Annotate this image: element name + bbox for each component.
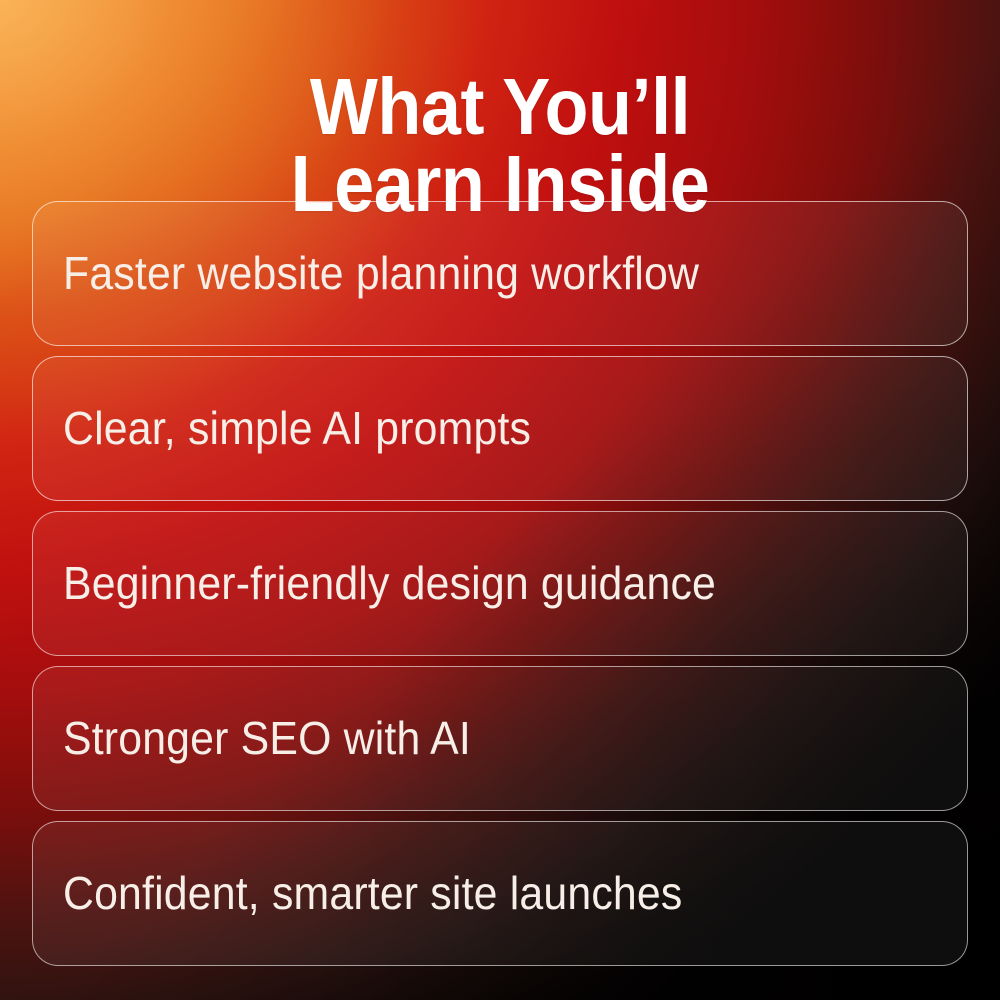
benefit-card-1-label: Faster website planning workflow xyxy=(63,249,699,297)
benefit-card-2-label: Clear, simple AI prompts xyxy=(63,404,531,452)
benefit-card-3[interactable]: Beginner-friendly design guidance xyxy=(32,511,968,656)
benefit-card-5-label: Confident, smarter site launches xyxy=(63,869,682,917)
promo-graphic-canvas: What You’ll Learn Inside Faster website … xyxy=(0,0,1000,1000)
benefit-card-2[interactable]: Clear, simple AI prompts xyxy=(32,356,968,501)
page-title: What You’ll Learn Inside xyxy=(50,68,950,223)
benefit-card-list: Faster website planning workflow Clear, … xyxy=(32,201,968,966)
benefit-card-3-label: Beginner-friendly design guidance xyxy=(63,559,716,607)
benefit-card-5[interactable]: Confident, smarter site launches xyxy=(32,821,968,966)
benefit-card-4[interactable]: Stronger SEO with AI xyxy=(32,666,968,811)
benefit-card-1[interactable]: Faster website planning workflow xyxy=(32,201,968,346)
benefit-card-4-label: Stronger SEO with AI xyxy=(63,714,471,762)
